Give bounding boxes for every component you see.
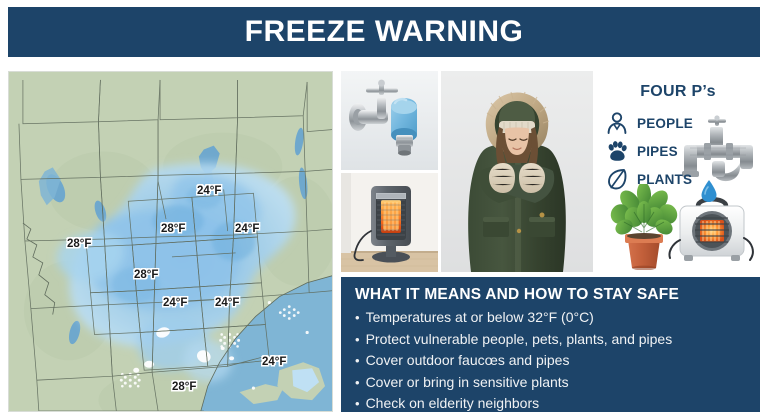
safety-info-bullet-text: Check on elderity neighbors — [366, 393, 540, 414]
bullet-marker: • — [355, 308, 360, 329]
four-ps-item-plants: PLANTS — [605, 167, 692, 191]
bullet-marker: • — [355, 373, 360, 394]
bullet-marker: • — [355, 330, 360, 351]
four-ps-title: FOUR P’s — [596, 83, 760, 101]
header-banner: FREEZE WARNING — [8, 7, 760, 57]
four-ps-label-pipes: PIPES — [637, 144, 678, 159]
temperature-map[interactable]: 24°F28°F24°F28°F28°F24°F24°F24°F28°F — [8, 71, 333, 412]
safety-info-bullet-text: Protect vulnerable people, pets, plants,… — [366, 329, 673, 350]
water-droplet-icon — [700, 179, 718, 203]
safety-info-bullet: •Cover outdoor faucœs and pipes — [355, 350, 760, 372]
safety-info-title: WHAT IT MEANS AND HOW TO STAY SAFE — [355, 286, 760, 304]
paw-print-icon — [605, 139, 629, 163]
leaf-icon — [605, 167, 629, 191]
freeze-warning-infographic: FREEZE WARNING — [0, 0, 768, 419]
safety-info-panel: WHAT IT MEANS AND HOW TO STAY SAFE •Temp… — [341, 277, 760, 412]
person-in-winter-coat-photo — [441, 71, 593, 272]
four-ps-label-plants: PLANTS — [637, 172, 692, 187]
outdoor-faucet-cover-photo — [341, 71, 438, 170]
page-title: FREEZE WARNING — [245, 15, 524, 49]
person-winter-clothing-graphic — [441, 71, 593, 272]
space-heater-graphic — [341, 173, 438, 272]
map-graphic — [9, 72, 332, 411]
safety-info-bullet-text: Cover or bring in sensitive plants — [366, 372, 569, 393]
four-ps-panel: FOUR P’s — [596, 71, 760, 272]
safety-info-bullet-text: Cover outdoor faucœs and pipes — [366, 350, 570, 371]
safety-info-bullet: •Temperatures at or below 32°F (0°C) — [355, 307, 760, 329]
four-ps-item-pipes: PIPES — [605, 139, 678, 163]
four-ps-item-people: PEOPLE — [605, 111, 693, 135]
four-ps-label-people: PEOPLE — [637, 116, 693, 131]
safety-info-bullet-text: Temperatures at or below 32°F (0°C) — [366, 307, 594, 328]
safety-info-bullet: •Check on elderity neighbors — [355, 393, 760, 415]
safety-info-bullet: •Cover or bring in sensitive plants — [355, 372, 760, 394]
safety-info-bullet-list: •Temperatures at or below 32°F (0°C)•Pro… — [355, 307, 760, 415]
bullet-marker: • — [355, 351, 360, 372]
safety-info-bullet: •Protect vulnerable people, pets, plants… — [355, 329, 760, 351]
faucet-cover-graphic — [341, 71, 438, 170]
space-heater-photo — [341, 173, 438, 272]
portable-heater-graphic — [668, 194, 756, 268]
person-icon — [605, 111, 629, 135]
bullet-marker: • — [355, 394, 360, 415]
